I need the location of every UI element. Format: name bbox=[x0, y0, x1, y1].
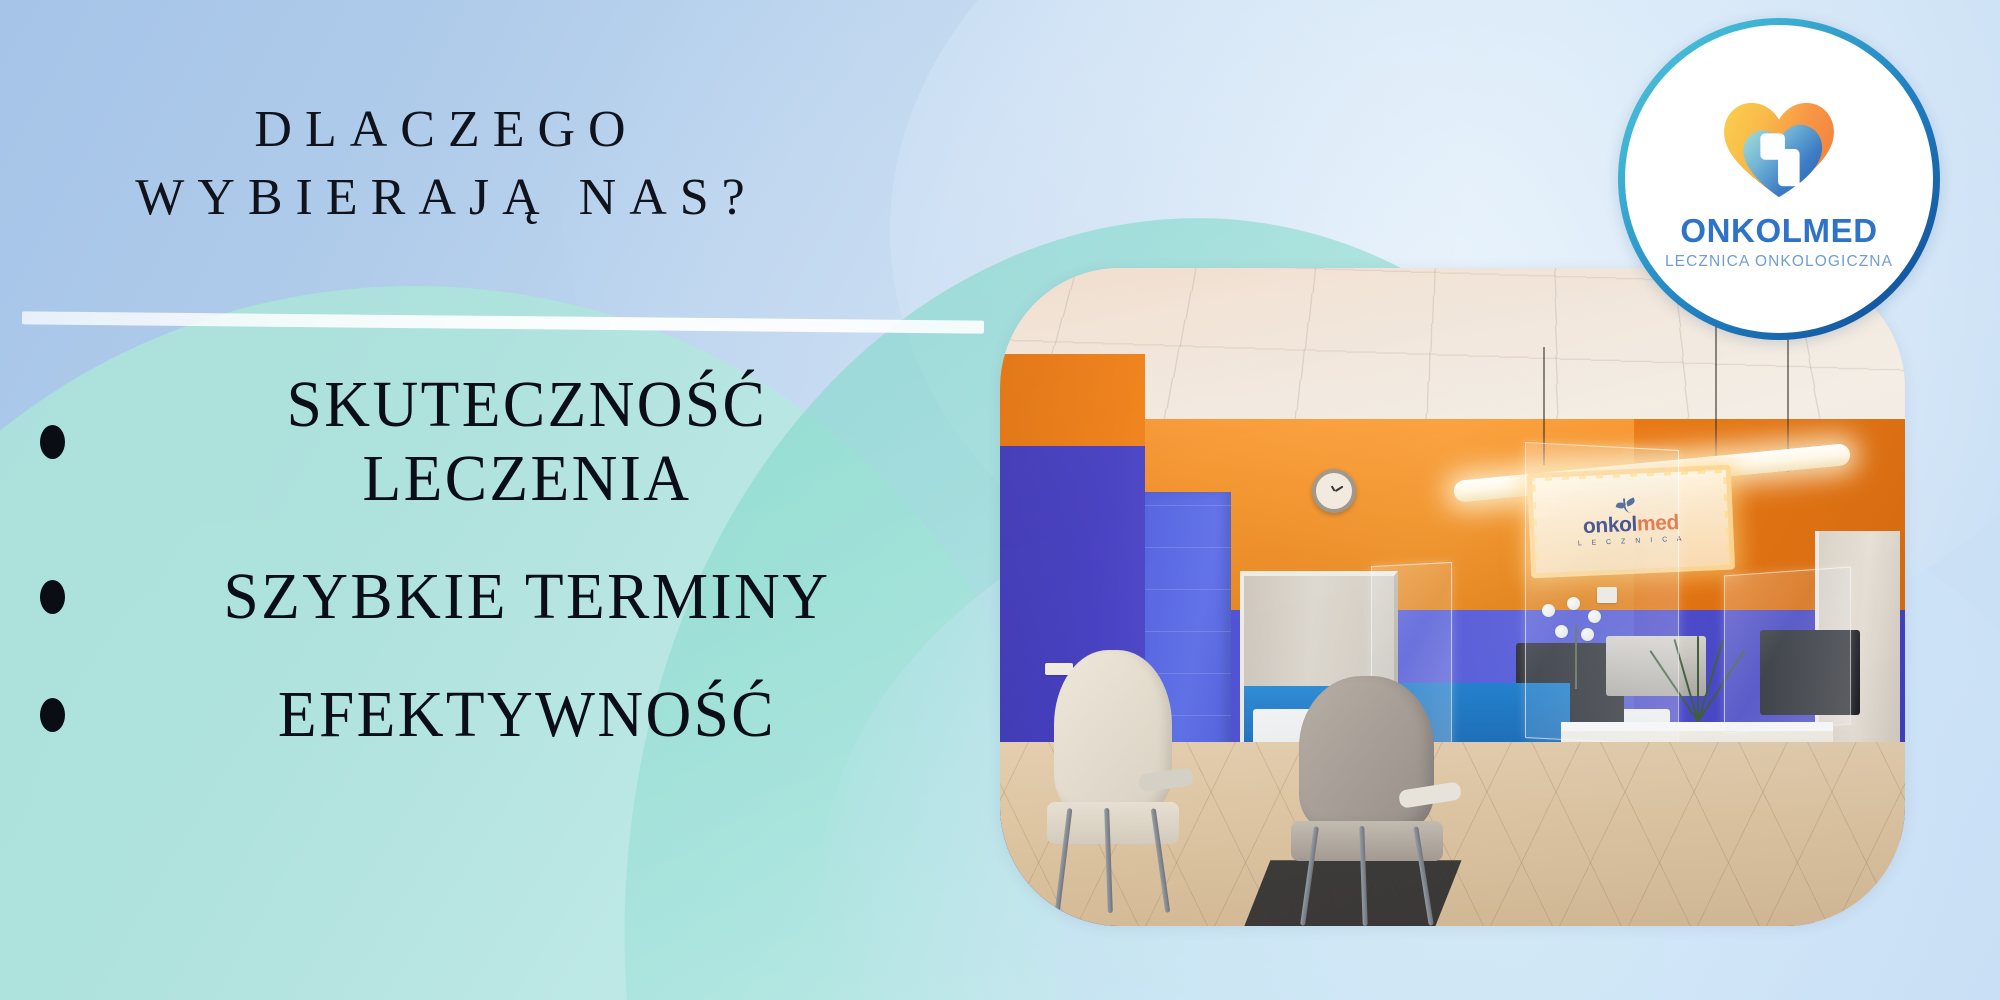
bullet-dot-icon bbox=[40, 698, 65, 732]
bullet-dot-icon bbox=[40, 425, 65, 459]
list-item-label: SZYBKIE TERMINY bbox=[94, 560, 982, 634]
waiting-chair bbox=[1054, 650, 1172, 913]
plant-leaf bbox=[1697, 636, 1699, 722]
page-title-line-1: DLACZEGO bbox=[0, 96, 880, 164]
clinic-photo: onkolmed L E C Z N I C A bbox=[1000, 268, 1905, 926]
bullet-dot-icon bbox=[40, 580, 65, 614]
logo-tagline: LECZNICA ONKOLOGICZNA bbox=[1665, 254, 1893, 270]
wall-clock-icon bbox=[1312, 469, 1356, 513]
page-title-line-2: WYBIERAJĄ NAS? bbox=[0, 164, 880, 232]
list-item: EFEKTYWNOŚĆ bbox=[0, 678, 1000, 752]
page-title: DLACZEGO WYBIERAJĄ NAS? bbox=[0, 96, 880, 231]
list-item-label: EFEKTYWNOŚĆ bbox=[94, 678, 982, 752]
list-item-label: SKUTECZNOŚĆ LECZENIA bbox=[94, 368, 982, 516]
clinic-photo-scene: onkolmed L E C Z N I C A bbox=[1000, 268, 1905, 926]
poster-canvas: DLACZEGO WYBIERAJĄ NAS? SKUTECZNOŚĆ LECZ… bbox=[0, 0, 2000, 1000]
light-wire bbox=[1715, 321, 1717, 466]
waiting-chair bbox=[1299, 676, 1435, 926]
list-item: SKUTECZNOŚĆ LECZENIA bbox=[0, 368, 1000, 516]
acrylic-screen bbox=[1724, 566, 1851, 733]
logo-badge[interactable]: ONKOLMED LECZNICA ONKOLOGICZNA bbox=[1618, 18, 1940, 340]
heart-with-medical-cross-icon bbox=[1720, 98, 1838, 202]
logo-name: ONKOLMED bbox=[1680, 214, 1877, 247]
list-item: SZYBKIE TERMINY bbox=[0, 560, 1000, 634]
chair-back bbox=[1299, 676, 1435, 831]
benefits-list: SKUTECZNOŚĆ LECZENIA SZYBKIE TERMINY EFE… bbox=[0, 368, 1000, 752]
acrylic-screen bbox=[1525, 442, 1679, 746]
plant-leaf bbox=[1697, 640, 1724, 722]
